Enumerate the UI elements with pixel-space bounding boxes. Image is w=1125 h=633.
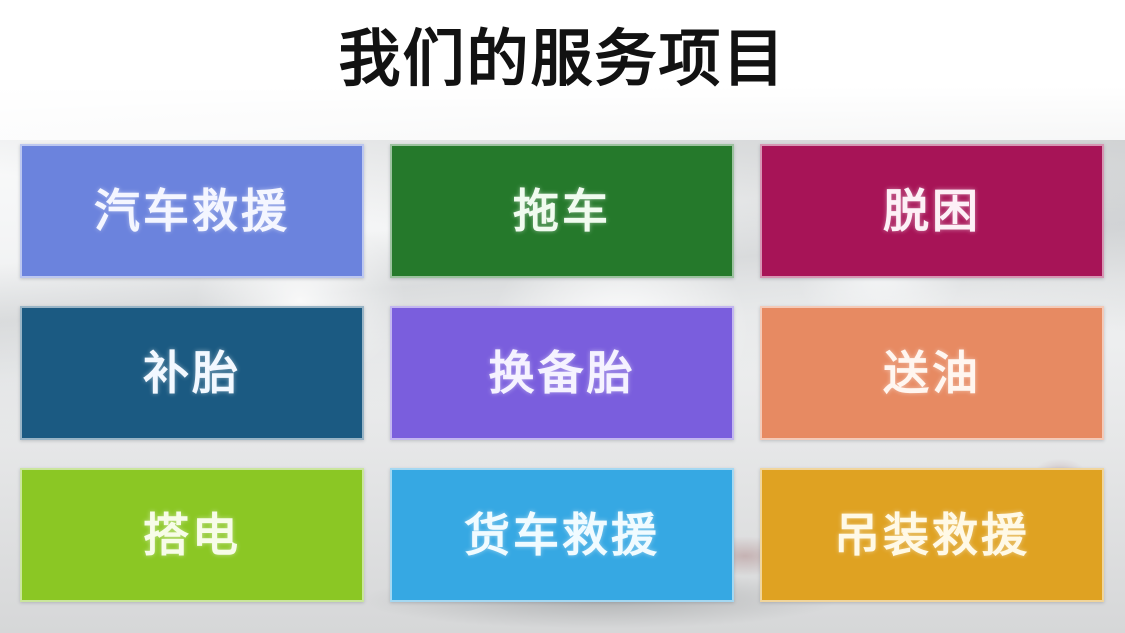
service-tile-label: 吊装救援 <box>834 512 1030 558</box>
service-tile[interactable]: 货车救援 <box>390 468 734 602</box>
service-tile-label: 汽车救援 <box>94 188 290 234</box>
service-tile-label: 补胎 <box>143 350 241 396</box>
service-tile[interactable]: 补胎 <box>20 306 364 440</box>
service-tile[interactable]: 换备胎 <box>390 306 734 440</box>
service-tile[interactable]: 拖车 <box>390 144 734 278</box>
service-poster: 我们的服务项目 汽车救援 拖车 脱困 补胎 换备胎 送油 搭电 货车救援 吊装救… <box>0 0 1125 633</box>
service-tile[interactable]: 送油 <box>760 306 1104 440</box>
service-tile-label: 脱困 <box>883 188 981 234</box>
service-tile[interactable]: 汽车救援 <box>20 144 364 278</box>
service-tile-label: 换备胎 <box>489 350 636 396</box>
service-tile-label: 拖车 <box>513 188 611 234</box>
service-tile-label: 搭电 <box>143 512 241 558</box>
service-tile-label: 送油 <box>883 350 981 396</box>
service-tile[interactable]: 吊装救援 <box>760 468 1104 602</box>
service-tile[interactable]: 搭电 <box>20 468 364 602</box>
service-tile[interactable]: 脱困 <box>760 144 1104 278</box>
service-tile-label: 货车救援 <box>464 512 660 558</box>
page-title: 我们的服务项目 <box>0 24 1125 96</box>
service-grid: 汽车救援 拖车 脱困 补胎 换备胎 送油 搭电 货车救援 吊装救援 <box>20 144 1105 602</box>
